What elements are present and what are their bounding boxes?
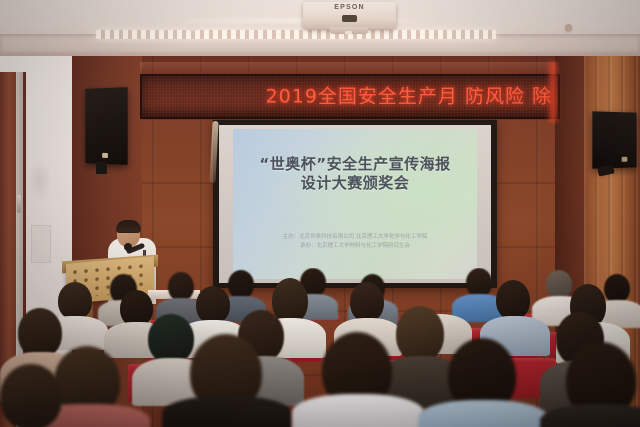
ceiling-light-glow	[150, 18, 450, 23]
audience-head	[228, 270, 254, 299]
audience-head-cap	[148, 314, 194, 364]
audience-head-front	[0, 364, 62, 427]
projector-indicator-icon	[345, 31, 352, 34]
microphone-capsule-icon	[124, 243, 132, 251]
slide-subtitle: 主办：北京世奥科技有限公司 北京理工大学化学与化工学院 承办：北京理工大学材料与…	[233, 233, 477, 251]
projector-brand-label: EPSON	[303, 4, 396, 11]
wall-speaker-left	[85, 87, 127, 165]
audience-head	[546, 270, 572, 299]
ceiling-light-strip-icon	[96, 30, 496, 39]
projected-slide: “世奥杯”安全生产宣传海报 设计大赛颁奖会 主办：北京世奥科技有限公司 北京理工…	[233, 129, 477, 279]
audience-shoulders-front	[418, 400, 548, 427]
audience-head	[496, 280, 530, 320]
screenshot-root: EPSON 2019全国安全生产月 防风险 除 “世奥杯”安全生产宣传海报 设计…	[0, 0, 640, 427]
slide-title: “世奥杯”安全生产宣传海报 设计大赛颁奖会	[233, 155, 477, 193]
slide-subtitle-line2: 承办：北京理工大学材料与化工学院研究生会	[233, 242, 477, 251]
led-banner-edge-glow	[547, 62, 559, 122]
sprinkler-head-icon	[565, 24, 572, 31]
glasses-icon	[119, 232, 138, 237]
audience-head-long-hair	[396, 306, 444, 362]
slide-title-line2: 设计大赛颁奖会	[233, 174, 477, 193]
audience-head	[350, 282, 384, 322]
audience-head	[466, 268, 492, 297]
audience-head	[58, 282, 92, 320]
slide-subtitle-line1: 主办：北京世奥科技有限公司 北京理工大学化学与化工学院	[233, 233, 477, 242]
slide-title-line1: “世奥杯”安全生产宣传海报	[259, 155, 450, 173]
led-banner-text: 2019全国安全生产月 防风险 除	[266, 87, 552, 106]
audience-head	[168, 272, 194, 301]
audience-shoulders-front	[292, 394, 424, 427]
led-banner: 2019全国安全生产月 防风险 除	[140, 74, 560, 119]
speaker-led-icon	[102, 153, 108, 158]
projection-screen: “世奥杯”安全生产宣传海报 设计大赛颁奖会 主办：北京世奥科技有限公司 北京理工…	[219, 125, 491, 283]
audience-head	[196, 286, 230, 324]
banner-top-sheen	[140, 62, 556, 74]
wall-speaker-left-mount	[96, 162, 107, 174]
wall-mark	[28, 160, 52, 202]
door-handle-icon[interactable]	[17, 195, 21, 213]
speaker-led-icon	[622, 157, 628, 162]
audience-area	[0, 268, 640, 427]
wall-fixture	[31, 225, 51, 263]
audience-head	[604, 274, 630, 303]
ceiling-projector-icon: EPSON	[303, 2, 396, 29]
wall-speaker-right	[592, 111, 636, 168]
audience-head-long-hair	[18, 308, 62, 358]
projector-lens-icon	[342, 15, 357, 22]
audience-shoulders-front	[162, 396, 292, 427]
smoke-detector-icon	[186, 25, 199, 31]
